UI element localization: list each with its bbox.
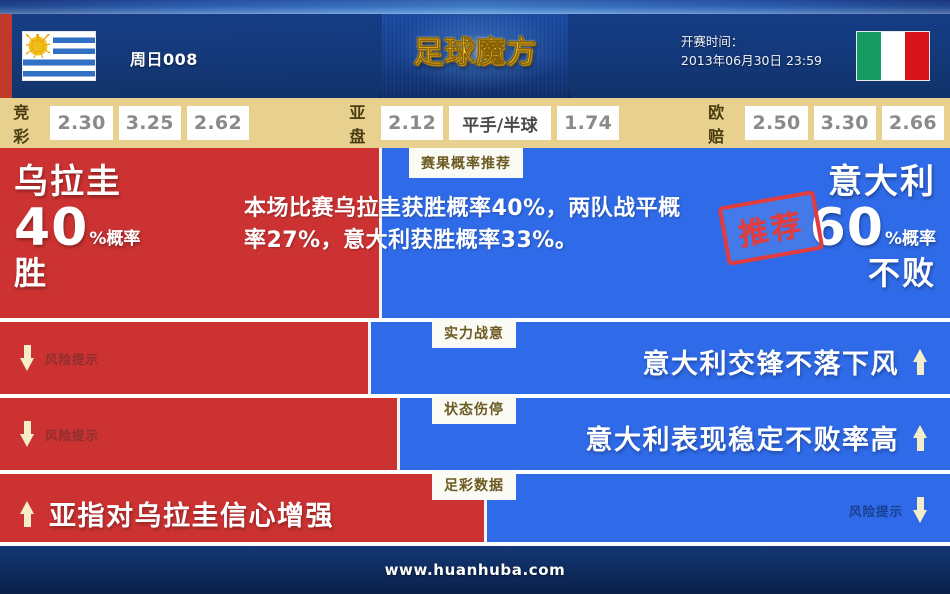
home-team-name: 乌拉圭 [14,162,140,202]
odds-group-yapan: 亚盘 2.12 平手/半球 1.74 [349,99,625,147]
away-verdict: 不败 [810,254,936,292]
odds-cell-yapan-home[interactable]: 2.12 [381,106,443,140]
odds-label-jingcai: 竞彩 [13,99,44,147]
odds-cell-jingcai-home[interactable]: 2.30 [50,106,112,140]
round-label: 周日008 [130,46,198,70]
row3-left-text-wrap: 亚指对乌拉圭信心增强 [20,494,334,533]
row1-left-risk: 风险提示 [20,345,99,371]
probability-chip: 赛果概率推荐 [409,148,523,178]
away-team-name: 意大利 [810,162,936,202]
odds-cell-oupei-away[interactable]: 2.66 [882,106,944,140]
odds-cell-jingcai-draw[interactable]: 3.25 [119,106,181,140]
away-percent-suffix: %概率 [885,224,936,254]
analysis-row-2: 风险提示 状态伤停 意大利表现稳定不败率高 [0,398,950,470]
match-preview-graphic: 周日008 足球魔方 开赛时间： 2013年06月30日 23:59 竞彩 2.… [0,0,950,594]
italy-flag-icon [856,31,930,81]
odds-cell-oupei-draw[interactable]: 3.30 [814,106,876,140]
arrow-up-icon [20,501,35,527]
odds-cell-yapan-away[interactable]: 1.74 [557,106,619,140]
odds-cell-oupei-home[interactable]: 2.50 [745,106,807,140]
header-red-accent [0,14,12,98]
odds-group-jingcai: 竞彩 2.30 3.25 2.62 [13,99,255,147]
row2-left-risk-label: 风险提示 [45,425,99,444]
arrow-up-icon [913,425,928,451]
row1-right-text: 意大利交锋不落下风 [643,342,900,381]
odds-bar: 竞彩 2.30 3.25 2.62 亚盘 2.12 平手/半球 1.74 欧赔 … [0,98,950,148]
home-percent-suffix: %概率 [89,224,140,254]
row3-chip: 足彩数据 [432,470,516,500]
odds-label-oupei: 欧赔 [708,99,739,147]
away-team-block: 意大利 60 %概率 不败 [810,162,936,293]
probability-description: 本场比赛乌拉圭获胜概率40%，两队战平概率27%，意大利获胜概率33%。 [244,193,684,257]
odds-cell-jingcai-away[interactable]: 2.62 [187,106,249,140]
row3-right-risk-label: 风险提示 [849,501,903,520]
row3-left-text: 亚指对乌拉圭信心增强 [49,494,334,533]
arrow-up-icon [913,349,928,375]
site-url[interactable]: www.huanhuba.com [385,561,566,579]
arrow-down-icon [20,345,35,371]
odds-group-oupei: 欧赔 2.50 3.30 2.66 [708,99,950,147]
top-accent-strip [0,0,950,14]
arrow-down-icon [913,497,928,523]
row1-divider [368,322,371,394]
kickoff-time: 开赛时间： 2013年06月30日 23:59 [681,32,822,71]
row2-right-text: 意大利表现稳定不败率高 [586,418,900,457]
home-win-percent: 40 [14,202,88,254]
home-team-block: 乌拉圭 40 %概率 胜 [14,162,140,293]
site-logo[interactable]: 足球魔方 [400,26,550,72]
analysis-row-3: 亚指对乌拉圭信心增强 足彩数据 风险提示 [0,474,950,546]
row1-right-text-wrap: 意大利交锋不落下风 [643,342,929,381]
odds-cell-yapan-handicap[interactable]: 平手/半球 [449,106,551,140]
analysis-row-1: 风险提示 实力战意 意大利交锋不落下风 [0,322,950,394]
odds-label-yapan: 亚盘 [349,99,375,147]
row3-right-risk: 风险提示 [849,497,928,523]
footer-bar: www.huanhuba.com [0,546,950,594]
kickoff-value: 2013年06月30日 23:59 [681,51,822,70]
row1-chip: 实力战意 [432,318,516,348]
arrow-down-icon [20,421,35,447]
row2-chip: 状态伤停 [432,394,516,424]
uruguay-flag-icon [22,31,96,81]
row2-divider [397,398,400,470]
row2-right-text-wrap: 意大利表现稳定不败率高 [586,418,929,457]
home-verdict: 胜 [14,254,140,292]
kickoff-label: 开赛时间： [681,32,822,51]
row1-left-risk-label: 风险提示 [45,349,99,368]
row2-left-risk: 风险提示 [20,421,99,447]
